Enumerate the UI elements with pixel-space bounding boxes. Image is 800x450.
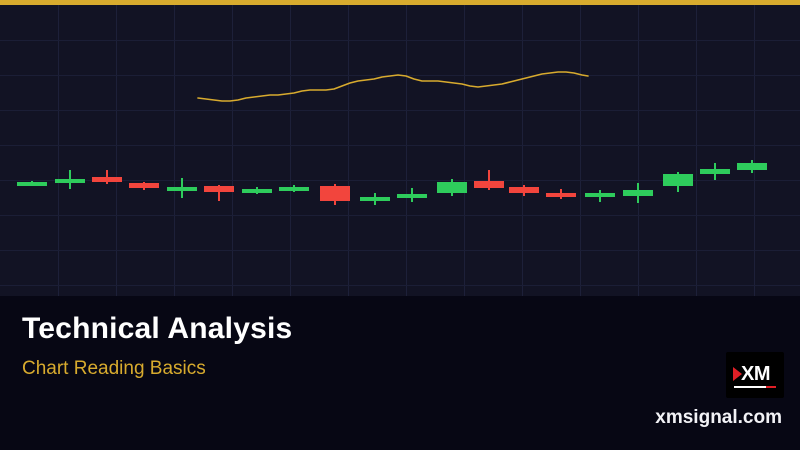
- candle-body-bullish: [663, 174, 693, 186]
- candle-body-bearish: [546, 193, 576, 197]
- candle-body-bullish: [242, 189, 272, 193]
- candle-body-bullish: [397, 194, 427, 198]
- candle-body-bullish: [17, 182, 47, 186]
- candle-body-bullish: [279, 187, 309, 191]
- marketing-chart-graphic: Technical Analysis Chart Reading Basics …: [0, 0, 800, 450]
- candle-body-bullish: [167, 187, 197, 191]
- site-watermark: xmsignal.com: [655, 407, 782, 429]
- logo-underline-accent: [766, 386, 776, 388]
- candle-body-bullish: [360, 197, 390, 201]
- candle-body-bullish: [623, 190, 653, 196]
- logo-wordmark: XM: [741, 364, 770, 384]
- candle-body-bullish: [55, 179, 85, 183]
- candle-body-bearish: [509, 187, 539, 193]
- candlestick-series: [0, 5, 800, 296]
- xm-brand-logo: XM: [726, 352, 784, 398]
- footer-banner: Technical Analysis Chart Reading Basics …: [0, 296, 800, 450]
- candle-body-bullish: [700, 169, 730, 174]
- candle-body-bearish: [320, 186, 350, 201]
- page-title: Technical Analysis: [22, 312, 292, 346]
- page-subtitle: Chart Reading Basics: [22, 358, 206, 380]
- candle-body-bullish: [585, 193, 615, 197]
- candle-body-bearish: [129, 183, 159, 188]
- candle-body-bearish: [92, 177, 122, 182]
- candle-body-bearish: [204, 186, 234, 192]
- candle-body-bullish: [437, 182, 467, 193]
- candle-body-bullish: [737, 163, 767, 170]
- candlestick-chart-panel: [0, 5, 800, 296]
- candle-body-bearish: [474, 181, 504, 188]
